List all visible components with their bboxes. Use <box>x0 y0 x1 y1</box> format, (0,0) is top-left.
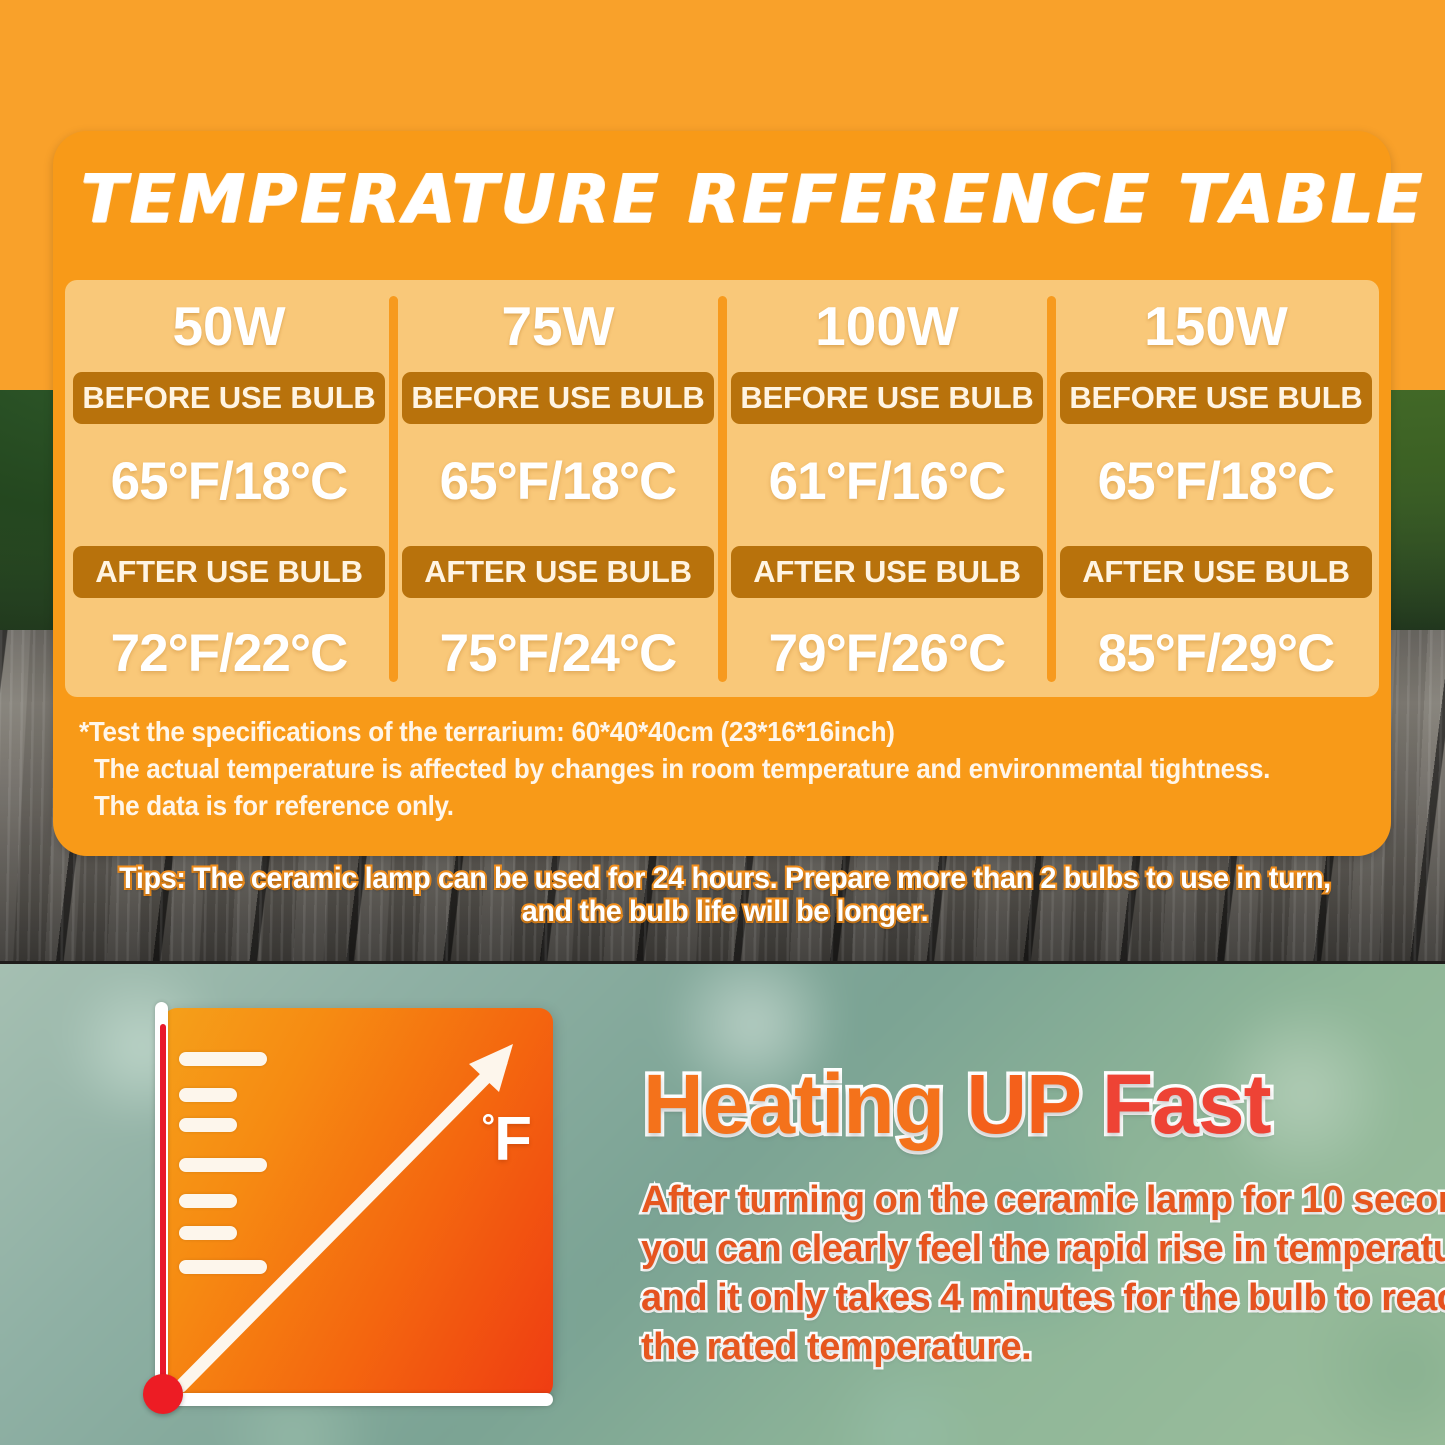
tips-line-2: and the bulb life will be longer. <box>87 895 1364 928</box>
after-use-bulb-label: AFTER USE BULB <box>402 546 714 598</box>
after-use-bulb-label: AFTER USE BULB <box>1060 546 1372 598</box>
after-use-bulb-label: AFTER USE BULB <box>73 546 385 598</box>
body-line-2: you can clearly feel the rapid rise in t… <box>641 1225 1381 1274</box>
baseline-axis <box>155 1393 553 1406</box>
heading-word-heating: Heating <box>643 1057 944 1151</box>
heating-up-fast-heading: Heating UP Fast <box>643 1058 1271 1150</box>
unit-letter: F <box>494 1105 531 1174</box>
table-column-100w: 100W BEFORE USE BULB 61°F/16°C AFTER USE… <box>723 280 1051 697</box>
mercury-bulb-icon <box>143 1374 183 1414</box>
temperature-table-section: TEMPERATURE REFERENCE TABLE 50W BEFORE U… <box>0 0 1445 963</box>
temperature-card: TEMPERATURE REFERENCE TABLE 50W BEFORE U… <box>53 131 1391 856</box>
body-line-3: and it only takes 4 minutes for the bulb… <box>641 1274 1381 1323</box>
wattage-label: 50W <box>65 284 393 368</box>
heading-word-fast: Fast <box>1102 1057 1271 1151</box>
after-temp-value: 75°F/24°C <box>394 610 722 697</box>
body-line-1: After turning on the ceramic lamp for 10… <box>641 1176 1381 1225</box>
before-use-bulb-label: BEFORE USE BULB <box>73 372 385 424</box>
footnote-line-2: The actual temperature is affected by ch… <box>79 750 1288 787</box>
tips-callout: Tips: The ceramic lamp can be used for 2… <box>60 862 1390 928</box>
fahrenheit-unit-label: °F <box>482 1096 531 1171</box>
after-temp-value: 85°F/29°C <box>1052 610 1379 697</box>
wattage-label: 100W <box>723 284 1051 368</box>
after-temp-value: 72°F/22°C <box>65 610 393 697</box>
page-title: TEMPERATURE REFERENCE TABLE <box>81 157 1363 241</box>
heading-word-up: UP <box>966 1057 1079 1151</box>
before-temp-value: 61°F/16°C <box>723 438 1051 526</box>
before-use-bulb-label: BEFORE USE BULB <box>731 372 1043 424</box>
before-temp-value: 65°F/18°C <box>65 438 393 526</box>
before-temp-value: 65°F/18°C <box>394 438 722 526</box>
wattage-label: 150W <box>1052 284 1379 368</box>
table-column-75w: 75W BEFORE USE BULB 65°F/18°C AFTER USE … <box>394 280 722 697</box>
column-divider <box>1047 296 1056 682</box>
footnote-line-1: *Test the specifications of the terrariu… <box>79 713 1288 750</box>
table-column-150w: 150W BEFORE USE BULB 65°F/18°C AFTER USE… <box>1052 280 1379 697</box>
wattage-label: 75W <box>394 284 722 368</box>
heating-description: After turning on the ceramic lamp for 10… <box>641 1176 1381 1372</box>
up-arrow-icon <box>169 1008 553 1398</box>
reference-table: 50W BEFORE USE BULB 65°F/18°C AFTER USE … <box>65 280 1379 697</box>
before-temp-value: 65°F/18°C <box>1052 438 1379 526</box>
body-line-4: the rated temperature. <box>641 1323 1381 1372</box>
infographic-page: TEMPERATURE REFERENCE TABLE 50W BEFORE U… <box>0 0 1445 1445</box>
rising-temperature-chart-icon: °F <box>163 1008 553 1398</box>
column-divider <box>389 296 398 682</box>
after-temp-value: 79°F/26°C <box>723 610 1051 697</box>
degree-symbol: ° <box>482 1108 495 1146</box>
before-use-bulb-label: BEFORE USE BULB <box>1060 372 1372 424</box>
footnote-line-3: The data is for reference only. <box>79 787 1288 824</box>
after-use-bulb-label: AFTER USE BULB <box>731 546 1043 598</box>
orange-top-fill <box>0 0 1445 108</box>
table-column-50w: 50W BEFORE USE BULB 65°F/18°C AFTER USE … <box>65 280 393 697</box>
column-divider <box>718 296 727 682</box>
footnote-block: *Test the specifications of the terrariu… <box>79 713 1379 824</box>
before-use-bulb-label: BEFORE USE BULB <box>402 372 714 424</box>
tips-line-1: Tips: The ceramic lamp can be used for 2… <box>87 862 1364 895</box>
mercury-column <box>160 1024 166 1384</box>
